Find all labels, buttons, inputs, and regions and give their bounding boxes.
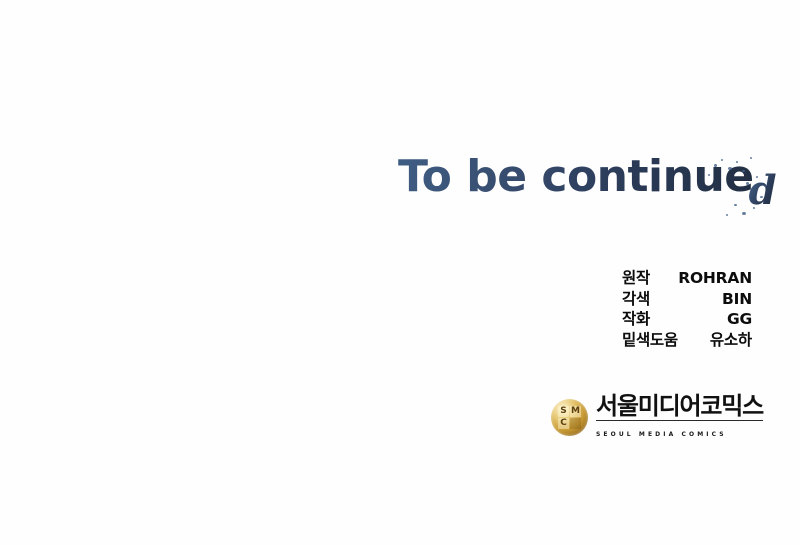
comic-end-page: To be continue d 원작 ROHRAN 각색 BIN 작화 <box>0 0 800 545</box>
credit-role: 작화 <box>622 309 650 330</box>
publisher-logo: S M C 서울미디어코믹스 SEOUL MEDIA COMICS <box>551 393 763 441</box>
credit-name: GG <box>717 309 752 330</box>
credit-row: 작화 GG <box>622 309 752 330</box>
credit-role: 각색 <box>622 289 650 310</box>
emblem-letter-m: M <box>570 406 581 417</box>
logo-text-group: 서울미디어코믹스 SEOUL MEDIA COMICS <box>596 393 763 441</box>
emblem-letter-s: S <box>558 406 569 417</box>
credit-name: BIN <box>712 289 752 310</box>
credit-role: 밑색도움 <box>622 330 678 351</box>
logo-subtitle: SEOUL MEDIA COMICS <box>596 431 727 438</box>
credit-row: 원작 ROHRAN <box>622 268 752 289</box>
logo-subtitle-rule: SEOUL MEDIA COMICS <box>596 420 763 441</box>
credit-role: 원작 <box>622 268 650 289</box>
emblem-letter-blank <box>570 418 581 429</box>
credit-row: 각색 BIN <box>622 289 752 310</box>
credits-block: 원작 ROHRAN 각색 BIN 작화 GG 밑색도움 유소하 <box>622 268 752 350</box>
logo-wordmark: 서울미디어코믹스 <box>596 393 763 419</box>
headline-tail-letter: d <box>749 171 777 211</box>
to-be-continued-headline: To be continue d <box>398 155 777 199</box>
credit-name: ROHRAN <box>668 268 752 289</box>
headline-main-text: To be continue <box>398 155 754 199</box>
emblem-monogram: S M C <box>558 406 581 429</box>
credit-name: 유소하 <box>700 330 752 351</box>
credit-row: 밑색도움 유소하 <box>622 330 752 351</box>
smc-emblem-icon: S M C <box>551 399 588 436</box>
emblem-letter-c: C <box>558 418 569 429</box>
